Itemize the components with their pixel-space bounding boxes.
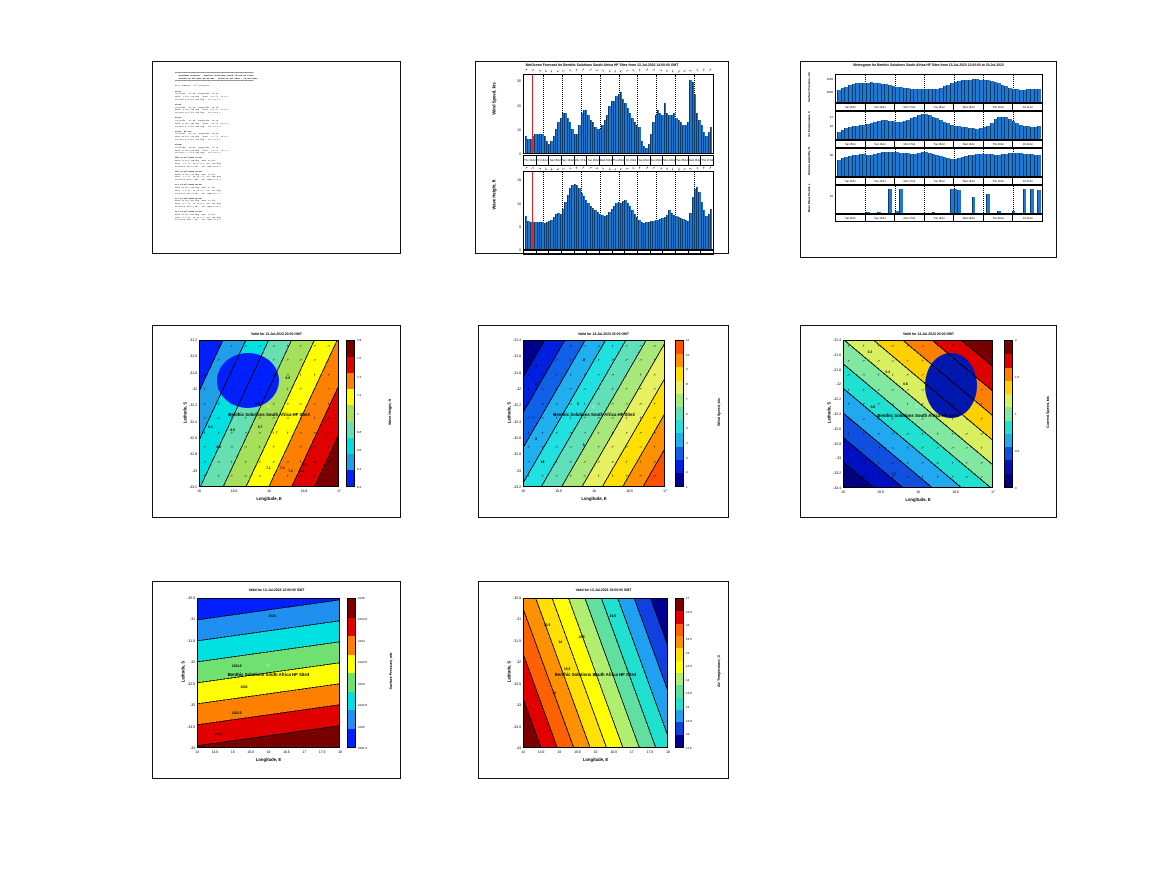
vector-arrow-icon: ↗ bbox=[624, 445, 628, 450]
x-tick-label: 15 bbox=[226, 750, 240, 754]
vector-arrow-icon: ↗ bbox=[326, 401, 331, 406]
colorbar-segment bbox=[676, 735, 683, 747]
vector-arrow-icon: ↗ bbox=[540, 387, 544, 392]
vector-arrow-icon: ↗ bbox=[906, 373, 909, 377]
y-tick-label: -33 bbox=[503, 469, 521, 473]
vector-arrow-icon: ↗ bbox=[905, 475, 910, 480]
colorbar-segment bbox=[1005, 381, 1012, 394]
contour-label: 0.2 bbox=[868, 350, 872, 354]
vector-arrow-icon: ↗ bbox=[935, 431, 939, 436]
contour-label: 10 bbox=[541, 460, 545, 464]
map-plot-area: ↗↗↗↗↗↗↗↗↗↗↗↗↗↗↗↗↗↗↗↗↗↗↗↗↗↗↗↗↗↗↗↗↗↗↗↗↗↗↗↗… bbox=[523, 340, 665, 487]
colorbar-segment bbox=[347, 454, 354, 470]
contour-label: 0.4 bbox=[885, 370, 889, 374]
bar bbox=[710, 209, 712, 249]
contour-label: 9 bbox=[583, 443, 585, 447]
colorbar-title: Wind Speed, kts bbox=[717, 382, 721, 442]
y-tick-label: -32.8 bbox=[823, 442, 841, 446]
y-tick-label: -32.2 bbox=[823, 397, 841, 401]
vector-arrow-icon: ↗ bbox=[920, 358, 924, 363]
colorbar-segment bbox=[676, 710, 683, 722]
wind-direction-arrows-top: ↗↗↗↗↗↗↗↗↗↗↗↗↗↗↗↗↗↗↗↗↗↗↗↗↗↗↗↗↗↗ bbox=[523, 67, 714, 74]
contour-label: 7.1 bbox=[266, 466, 270, 470]
vector-arrow-icon: ↗ bbox=[299, 387, 303, 392]
vector-arrow-icon: ↗ bbox=[568, 431, 572, 436]
vector-arrow-icon: ↗ bbox=[596, 445, 600, 450]
vector-arrow-icon: ↗ bbox=[257, 445, 261, 450]
vector-arrow-icon: ↗ bbox=[569, 344, 572, 348]
vector-arrow-icon: ↗ bbox=[876, 402, 880, 407]
vector-arrow-icon: ↗ bbox=[582, 430, 586, 435]
x-axis-label: Longitude, E bbox=[523, 496, 665, 501]
y-tick-label: -33.2 bbox=[823, 471, 841, 475]
site-label: Benthic Solutions South Africa HF Site3 bbox=[524, 412, 664, 417]
colorbar-segment bbox=[676, 447, 683, 460]
vector-arrow-icon: ↗ bbox=[876, 373, 881, 378]
vector-arrow-icon: ↗ bbox=[327, 460, 330, 464]
y-tick-label: -32 bbox=[503, 660, 521, 664]
colorbar-segment bbox=[676, 473, 683, 486]
colorbar-tick-label: 1024.5 bbox=[358, 617, 367, 621]
vector-arrow-icon: ↗ bbox=[202, 358, 206, 363]
y-axis-label: Latitude, S bbox=[181, 642, 186, 702]
vector-arrow-icon: ↗ bbox=[299, 358, 303, 363]
vector-arrow-icon: ↗ bbox=[257, 387, 261, 392]
site-marker-icon: ☆ bbox=[593, 664, 597, 669]
x-tick-label: 17 bbox=[332, 489, 346, 493]
vector-arrow-icon: ↗ bbox=[596, 343, 601, 348]
x-tick-label: 17 bbox=[986, 490, 1000, 494]
vector-arrow-icon: ↗ bbox=[202, 445, 205, 449]
vector-arrow-icon: ↗ bbox=[216, 431, 220, 436]
vector-arrow-icon: ↗ bbox=[244, 431, 248, 436]
vector-arrow-icon: ↗ bbox=[652, 344, 656, 349]
colorbar-tick-label: 7 bbox=[357, 412, 359, 416]
meteogram-figure: Meteogram for Benthic Solutions South Af… bbox=[800, 61, 1057, 258]
vector-arrow-icon: ↗ bbox=[638, 358, 643, 363]
meteogram-y-tick: 1025 bbox=[811, 77, 833, 81]
vector-arrow-icon: ↗ bbox=[610, 459, 615, 464]
date-cell: Sun 16Jul bbox=[866, 141, 896, 147]
colorbar-segment bbox=[1005, 341, 1012, 354]
date-cell bbox=[562, 251, 575, 254]
vector-arrow-icon: ↗ bbox=[652, 373, 655, 377]
vector-arrow-icon: ↗ bbox=[271, 358, 275, 363]
vector-arrow-icon: ↗ bbox=[568, 460, 572, 465]
meteogram-date-strip: Sat 15JulSun 16JulMon 17JulTue 18JulWed … bbox=[835, 214, 1043, 222]
vector-arrow-icon: ↗ bbox=[554, 358, 558, 363]
contour-label: 1022.5 bbox=[232, 711, 242, 715]
vector-arrow-icon: ↗ bbox=[555, 431, 558, 435]
vector-arrow-icon: ↗ bbox=[285, 445, 288, 449]
vector-arrow-icon: ↗ bbox=[921, 446, 925, 451]
y-tick-label: -33 bbox=[177, 703, 195, 707]
colorbar-segment bbox=[676, 722, 683, 734]
date-cell bbox=[689, 251, 702, 254]
vector-arrow-icon: ↗ bbox=[950, 344, 954, 349]
colorbar bbox=[1004, 340, 1013, 488]
bar-series bbox=[524, 172, 713, 249]
y-tick-label: -32.4 bbox=[503, 420, 521, 424]
vector-arrow-icon: ↗ bbox=[526, 430, 531, 435]
vector-arrow-icon: ↗ bbox=[312, 445, 317, 450]
colorbar-segment bbox=[348, 636, 355, 655]
colorbar-segment bbox=[676, 460, 683, 473]
vector-arrow-icon: ↗ bbox=[891, 431, 895, 436]
vector-arrow-icon: ↗ bbox=[526, 459, 530, 464]
vector-arrow-icon: ↗ bbox=[313, 344, 316, 348]
site-marker-icon: ☆ bbox=[591, 405, 595, 410]
colorbar-tick-label: 9 bbox=[686, 367, 688, 371]
x-tick-label: 15 bbox=[192, 489, 206, 493]
vector-arrow-icon: ↗ bbox=[526, 387, 531, 392]
y-tick-label: -32 bbox=[823, 382, 841, 386]
y-tick-label: -33 bbox=[823, 456, 841, 460]
colorbar bbox=[675, 340, 684, 487]
vector-arrow-icon: ↗ bbox=[905, 387, 909, 392]
date-cell: Thu 20Jul bbox=[984, 141, 1014, 147]
vector-arrow-icon: ↗ bbox=[652, 358, 657, 363]
colorbar-segment bbox=[676, 698, 683, 710]
vector-arrow-icon: ↗ bbox=[596, 358, 600, 363]
date-cell: Tue 25Jul bbox=[676, 156, 689, 165]
colorbar-segment bbox=[348, 599, 355, 618]
vector-arrow-icon: ↗ bbox=[540, 343, 544, 348]
contour-label: 7.5 bbox=[302, 463, 306, 467]
vector-arrow-icon: ↗ bbox=[625, 474, 628, 478]
vector-arrow-icon: ↗ bbox=[950, 446, 954, 451]
vector-arrow-icon: ↗ bbox=[979, 431, 983, 436]
vector-arrow-icon: ↗ bbox=[890, 358, 895, 363]
y-tick-label: -31 bbox=[177, 617, 195, 621]
vector-arrow-icon: ↗ bbox=[920, 387, 925, 392]
colorbar-tick-label: 7.6 bbox=[357, 356, 361, 360]
vector-arrow-icon: ↗ bbox=[639, 344, 642, 348]
colorbar-tick-label: 1022 bbox=[358, 725, 365, 729]
y-tick-label: 15 bbox=[507, 178, 521, 182]
y-tick-label: -32.8 bbox=[179, 452, 197, 456]
vector-arrow-icon: ↗ bbox=[541, 358, 544, 362]
colorbar-tick-label: 7.8 bbox=[357, 338, 361, 342]
vector-arrow-icon: ↗ bbox=[596, 460, 600, 465]
date-cell bbox=[575, 251, 588, 254]
vector-arrow-icon: ↗ bbox=[312, 372, 316, 377]
y-tick-label: -32 bbox=[503, 387, 521, 391]
y-tick-label: -32.4 bbox=[823, 412, 841, 416]
vector-arrow-icon: ↗ bbox=[905, 431, 909, 436]
vector-arrow-icon: ↗ bbox=[583, 460, 586, 464]
vector-arrow-icon: ↗ bbox=[313, 387, 316, 391]
bar bbox=[1037, 190, 1041, 213]
colorbar-tick-label: 15 bbox=[686, 651, 689, 655]
colorbar-segment bbox=[1005, 394, 1012, 407]
colorbar-segment bbox=[347, 389, 354, 405]
vector-arrow-icon: ↗ bbox=[861, 446, 864, 450]
vector-arrow-icon: ↗ bbox=[299, 402, 303, 407]
date-cell: Sat 15Jul bbox=[836, 215, 866, 221]
x-tick-label: 18 bbox=[661, 750, 675, 754]
colorbar-tick-label: 17 bbox=[686, 596, 689, 600]
vector-arrow-icon: ↗ bbox=[936, 358, 939, 362]
site-label: Benthic Solutions South Africa HF Site3 bbox=[524, 672, 667, 677]
vector-arrow-icon: ↗ bbox=[638, 460, 642, 465]
date-cell: Sat 15Jul bbox=[836, 178, 866, 184]
vector-arrow-icon: ↗ bbox=[846, 343, 851, 348]
vector-arrow-icon: ↗ bbox=[244, 460, 248, 465]
y-tick-label: 10 bbox=[507, 202, 521, 206]
date-cell bbox=[663, 251, 676, 254]
meteogram-title: Meteogram for Benthic Solutions South Af… bbox=[801, 63, 1056, 67]
vector-arrow-icon: ↗ bbox=[847, 402, 851, 406]
vector-arrow-icon: ↗ bbox=[298, 372, 303, 377]
date-cell: Tue 18Jul bbox=[925, 215, 955, 221]
vector-arrow-icon: ↗ bbox=[299, 474, 302, 478]
vector-arrow-icon: ↗ bbox=[258, 460, 261, 464]
date-cell: Tue 18Jul bbox=[925, 141, 955, 147]
colorbar-tick-label: 14.5 bbox=[686, 664, 692, 668]
meteogram-y-tick: 90 bbox=[811, 153, 833, 157]
wave-height-plot-area bbox=[523, 171, 714, 250]
y-tick-label: -32 bbox=[177, 660, 195, 664]
colorbar-tick-label: 1.5 bbox=[1015, 375, 1019, 379]
y-tick-label: -30.5 bbox=[503, 596, 521, 600]
x-tick-label: 16.5 bbox=[607, 750, 621, 754]
colorbar-segment bbox=[676, 420, 683, 433]
vector-arrow-icon: ↗ bbox=[271, 343, 276, 348]
map-plot-area: 13.51414.51515.51616.5☆Benthic Solutions… bbox=[523, 598, 668, 748]
y-tick-label: -31.2 bbox=[179, 338, 197, 342]
vector-arrow-icon: ↗ bbox=[299, 344, 303, 349]
vector-arrow-icon: ↗ bbox=[950, 373, 955, 378]
vector-arrow-icon: ↗ bbox=[624, 372, 629, 377]
vector-arrow-icon: ↗ bbox=[568, 373, 572, 378]
vector-arrow-icon: ↗ bbox=[861, 373, 866, 378]
meteogram-date-strip: Sat 15JulSun 16JulMon 17JulTue 18JulWed … bbox=[835, 177, 1043, 185]
vector-arrow-icon: ↗ bbox=[285, 474, 289, 479]
date-cell: Fri 21Jul bbox=[1013, 104, 1042, 110]
vector-arrow-icon: ↗ bbox=[965, 460, 969, 465]
vector-arrow-icon: ↗ bbox=[583, 373, 586, 377]
bar bbox=[1030, 189, 1034, 213]
x-tick-label: 15 bbox=[836, 490, 850, 494]
vector-arrow-icon: ↗ bbox=[964, 446, 969, 451]
vector-arrow-icon: ↗ bbox=[216, 402, 219, 406]
colorbar-tick-label: 11.5 bbox=[686, 746, 692, 750]
vector-arrow-icon: ↗ bbox=[596, 387, 601, 392]
colorbar-segment bbox=[676, 354, 683, 367]
contour-label: 1 bbox=[865, 458, 867, 462]
colorbar-tick-label: 5 bbox=[686, 426, 688, 430]
contour-label: 1022 bbox=[215, 732, 222, 736]
vector-arrow-icon: ↗ bbox=[596, 430, 601, 435]
vector-arrow-icon: ↗ bbox=[216, 459, 221, 464]
wave-height-axis-label: Wave Height, ft bbox=[492, 155, 497, 235]
vector-arrow-icon: ↗ bbox=[980, 344, 984, 349]
vector-arrow-icon: ↗ bbox=[920, 402, 924, 407]
contour-label: 6.4 bbox=[208, 425, 212, 429]
vector-arrow-icon: ↗ bbox=[638, 372, 642, 377]
colorbar-tick-label: 1023.5 bbox=[358, 660, 367, 664]
site-marker-icon: ☆ bbox=[266, 664, 270, 669]
colorbar-segment bbox=[348, 618, 355, 637]
colorbar-tick-label: 3 bbox=[686, 456, 688, 460]
y-tick-label: -31.6 bbox=[503, 354, 521, 358]
vector-arrow-icon: ↗ bbox=[229, 372, 234, 377]
map-plot-area: ↗↗↗↗↗↗↗↗↗↗↗↗↗↗↗↗↗↗↗↗↗↗↗↗↗↗↗↗↗↗↗↗↗↗↗↗↗↗↗↗… bbox=[843, 340, 993, 488]
x-tick-label: 17 bbox=[625, 750, 639, 754]
wind-speed-axis-label: Wind Speed, kts bbox=[492, 59, 497, 139]
colorbar-tick-label: 6 bbox=[686, 412, 688, 416]
vector-arrow-icon: ↗ bbox=[861, 387, 865, 392]
vector-arrow-icon: ↗ bbox=[950, 402, 954, 407]
date-cell bbox=[613, 251, 626, 254]
colorbar bbox=[347, 598, 356, 748]
colorbar-segment bbox=[1005, 434, 1012, 447]
vector-arrow-icon: ↗ bbox=[950, 475, 953, 479]
y-tick-label: -30.5 bbox=[177, 596, 195, 600]
vector-arrow-icon: ↗ bbox=[312, 401, 317, 406]
contour-label: 0.6 bbox=[903, 382, 907, 386]
colorbar-tick-label: 0 bbox=[1015, 486, 1017, 490]
vector-arrow-icon: ↗ bbox=[891, 373, 895, 378]
bar bbox=[997, 211, 1001, 213]
vector-arrow-icon: ↗ bbox=[326, 445, 331, 450]
colorbar-tick-label: 15.5 bbox=[686, 637, 692, 641]
vector-arrow-icon: ↗ bbox=[624, 358, 628, 363]
wind-speed-plot-area bbox=[523, 74, 714, 154]
date-cell: Tue 18Jul bbox=[587, 156, 600, 165]
y-tick-label: -31.4 bbox=[823, 338, 841, 342]
vector-arrow-icon: ↗ bbox=[638, 474, 641, 478]
vector-arrow-icon: ↗ bbox=[216, 343, 220, 348]
contour-label: 16.5 bbox=[610, 614, 616, 618]
x-tick-label: 17 bbox=[658, 489, 672, 493]
vector-arrow-icon: ↗ bbox=[876, 475, 879, 479]
colorbar-segment bbox=[1005, 354, 1012, 367]
vector-arrow-icon: ↗ bbox=[653, 460, 656, 464]
y-tick-label: 20 bbox=[507, 104, 521, 108]
colorbar-segment bbox=[676, 685, 683, 697]
vector-arrow-icon: ↗ bbox=[920, 475, 925, 480]
colorbar-tick-label: 1022.5 bbox=[358, 703, 367, 707]
y-tick-label: -31.5 bbox=[179, 354, 197, 358]
y-tick-label: -31.8 bbox=[503, 371, 521, 375]
vector-arrow-icon: ↗ bbox=[846, 475, 851, 480]
vector-arrow-icon: ↗ bbox=[610, 372, 614, 377]
colorbar-segment bbox=[676, 433, 683, 446]
colorbar-tick-label: 6.8 bbox=[357, 430, 361, 434]
vector-arrow-icon: ↗ bbox=[638, 445, 643, 450]
contour-label: 3 bbox=[535, 364, 537, 368]
y-tick-label: -31 bbox=[503, 617, 521, 621]
colorbar-segment bbox=[676, 599, 683, 611]
contour-label: 16 bbox=[553, 691, 557, 695]
contour-label: 1023 bbox=[240, 685, 247, 689]
y-tick-label: 5 bbox=[507, 225, 521, 229]
vector-arrow-icon: ↗ bbox=[202, 474, 207, 479]
date-cell: Wed 19Jul bbox=[600, 156, 613, 165]
meteogram-y-tick: 1020 bbox=[811, 90, 833, 94]
vector-arrow-icon: ↗ bbox=[935, 475, 939, 480]
surface-pressure-map-figure: Valid for 13-Jul-2023 12:00:00 GMT102410… bbox=[152, 581, 401, 779]
colorbar-segment bbox=[676, 624, 683, 636]
vector-arrow-icon: ↗ bbox=[271, 460, 275, 465]
wind-speed-map-figure: Valid for 13-Jul-2023 20:00 GMT↗↗↗↗↗↗↗↗↗… bbox=[478, 325, 729, 518]
colorbar-segment bbox=[1005, 421, 1012, 434]
contour-label: 13.5 bbox=[544, 623, 550, 627]
vector-arrow-icon: ↗ bbox=[554, 445, 558, 450]
y-tick-label: -32.6 bbox=[503, 436, 521, 440]
date-cell: Wed 19Jul bbox=[954, 141, 984, 147]
vector-arrow-icon: ↗ bbox=[313, 431, 316, 435]
vector-arrow-icon: ↗ bbox=[554, 401, 558, 406]
contour-label: 0.8 bbox=[871, 405, 875, 409]
y-tick-label: -33 bbox=[503, 703, 521, 707]
date-cell: Mon 17Jul bbox=[895, 215, 925, 221]
colorbar-tick-label: 7.2 bbox=[357, 393, 361, 397]
date-cell: Thu 20Jul bbox=[984, 215, 1014, 221]
y-tick-label: -31.5 bbox=[177, 639, 195, 643]
colorbar-segment bbox=[347, 422, 354, 438]
vector-arrow-icon: ↗ bbox=[652, 401, 657, 406]
colorbar-tick-label: 12 bbox=[686, 732, 689, 736]
vector-arrow-icon: ↗ bbox=[652, 430, 656, 435]
vector-arrow-icon: ↗ bbox=[876, 460, 881, 465]
date-cell: Sat 15Jul bbox=[836, 104, 866, 110]
colorbar-tick-label: 16 bbox=[686, 623, 689, 627]
vector-arrow-icon: ↗ bbox=[258, 373, 261, 377]
vector-arrow-icon: ↗ bbox=[202, 373, 206, 378]
vector-arrow-icon: ↗ bbox=[568, 474, 572, 479]
contour-label: 4 bbox=[583, 358, 585, 362]
report-forecast-blocks: Thu 13-Jul-2023 12:00Wind 12 kts 240 deg… bbox=[175, 157, 394, 224]
vector-arrow-icon: ↗ bbox=[526, 358, 530, 363]
vector-arrow-icon: ↗ bbox=[568, 401, 573, 406]
x-tick-label: 15.5 bbox=[874, 490, 888, 494]
date-cell bbox=[524, 251, 537, 254]
vector-arrow-icon: ↗ bbox=[596, 402, 600, 407]
vector-arrow-icon: ↗ bbox=[271, 474, 276, 479]
vector-arrow-icon: ↗ bbox=[554, 459, 559, 464]
vector-arrow-icon: ↗ bbox=[652, 474, 656, 479]
vector-arrow-icon: ↗ bbox=[611, 358, 614, 362]
vector-arrow-icon: ↗ bbox=[216, 358, 219, 362]
y-tick-label: -32.6 bbox=[823, 427, 841, 431]
colorbar-tick-label: 2 bbox=[1015, 338, 1017, 342]
vector-arrow-icon: ↗ bbox=[638, 401, 643, 406]
colorbar-segment bbox=[347, 438, 354, 454]
vector-arrow-icon: ↗ bbox=[610, 474, 614, 479]
colorbar-segment bbox=[676, 407, 683, 420]
map-plot-area: ↗↗↗↗↗↗↗↗↗↗↗↗↗↗↗↗↗↗↗↗↗↗↗↗↗↗↗↗↗↗↗↗↗↗↗↗↗↗↗↗… bbox=[199, 340, 339, 487]
map-title: Valid for 13-Jul-2023 15:00:00 GMT bbox=[479, 588, 728, 592]
vector-arrow-icon: ↗ bbox=[935, 373, 939, 378]
colorbar-tick-label: 2 bbox=[686, 470, 688, 474]
vector-arrow-icon: ↗ bbox=[980, 373, 983, 377]
y-tick-label: 10 bbox=[507, 128, 521, 132]
date-cell bbox=[625, 251, 638, 254]
vector-arrow-icon: ↗ bbox=[257, 358, 262, 363]
meteogram-y-tick: 17 bbox=[811, 115, 833, 119]
vector-arrow-icon: ↗ bbox=[965, 475, 968, 479]
x-axis-label: Longitude, E bbox=[843, 497, 993, 502]
colorbar-segment bbox=[347, 341, 354, 357]
vector-arrow-icon: ↗ bbox=[965, 431, 968, 435]
vector-arrow-icon: ↗ bbox=[230, 358, 234, 363]
vector-arrow-icon: ↗ bbox=[582, 474, 587, 479]
vector-arrow-icon: ↗ bbox=[271, 445, 275, 450]
vector-arrow-icon: ↗ bbox=[596, 474, 601, 479]
